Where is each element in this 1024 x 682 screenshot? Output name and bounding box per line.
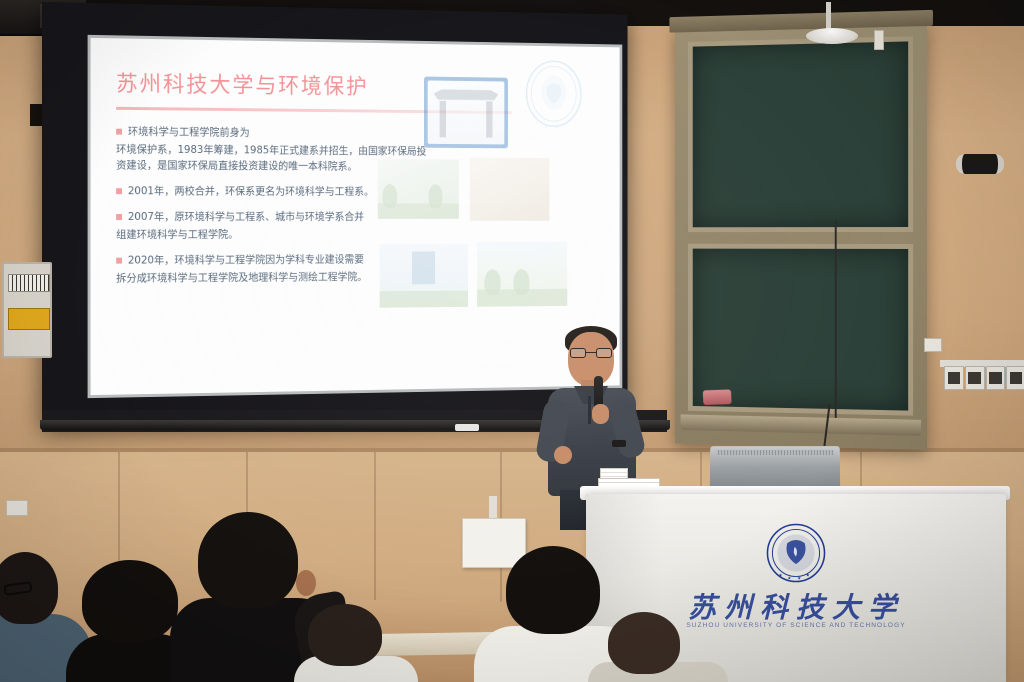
bullet-continuation-text: 组建环境科学与工程学院。 <box>116 227 429 243</box>
hanging-cord <box>835 220 837 418</box>
power-outlet-bank[interactable] <box>944 366 1024 390</box>
presenter-head <box>568 332 614 386</box>
power-outlet[interactable] <box>944 366 964 390</box>
slide-photo-old-building <box>378 159 459 219</box>
presenter-left-hand <box>554 446 572 464</box>
breaker-amber-label <box>8 308 50 330</box>
bullet-lead-text: 2020年，环境科学与工程学院因为学科专业建设需要 <box>128 252 364 269</box>
presenter-wristwatch <box>612 440 626 447</box>
audience-member <box>300 610 410 682</box>
blackboard-pane-upper <box>688 36 913 232</box>
bullet-square-icon <box>116 188 122 194</box>
electrical-breaker-panel[interactable] <box>2 262 52 358</box>
svg-text:★: ★ <box>544 125 548 129</box>
chalk-eraser[interactable] <box>703 389 732 405</box>
wall-camera-icon <box>956 154 1004 174</box>
presenter-right-hand <box>592 404 609 424</box>
svg-text:★: ★ <box>555 126 559 130</box>
presenter-placket <box>588 396 591 424</box>
bullet-square-icon <box>116 258 122 264</box>
slide-photo-campus-gate <box>424 77 508 149</box>
slide-photo-campus-greenway <box>477 241 567 306</box>
lecture-hall-scene: ★★ ★★ 苏州科技大学与环境保护 环境科学与工程学院前身为 环境保护系，198… <box>0 0 1024 682</box>
audience-member <box>598 618 718 682</box>
bullet-square-icon <box>116 214 122 220</box>
svg-text:★: ★ <box>565 121 569 125</box>
bullet-lead-text: 2007年，原环境科学与工程系、城市与环境学系合并 <box>128 209 364 225</box>
wall-outlet-plate[interactable] <box>6 500 28 516</box>
breaker-switch-row <box>8 274 50 292</box>
power-outlet[interactable] <box>986 366 1006 390</box>
screen-pull-tab[interactable] <box>455 424 479 431</box>
blackboard <box>675 22 927 450</box>
ceiling-speaker-icon <box>806 28 858 44</box>
bullet-item: 环境科学与工程学院前身为 <box>116 124 429 142</box>
chalk-tray <box>681 414 921 435</box>
bullet-lead-text: 2001年，两校合并，环保系更名为环境科学与工程系。 <box>128 183 374 199</box>
wall-sensor <box>874 30 884 50</box>
speaker-mount-stem <box>826 2 831 30</box>
light-switch[interactable] <box>924 338 942 352</box>
svg-text:★: ★ <box>535 121 539 125</box>
power-outlet[interactable] <box>965 366 985 390</box>
power-outlet[interactable] <box>1006 366 1024 390</box>
laptop-vent <box>716 450 834 455</box>
bullet-lead-text: 环境科学与工程学院前身为 <box>128 124 250 141</box>
presenter-glasses-icon <box>570 348 612 358</box>
slide-photo-modern-tower <box>380 244 468 308</box>
slide-title: 苏州科技大学与环境保护 <box>116 66 596 103</box>
bullet-square-icon <box>116 129 122 135</box>
slide-photo-brick-building <box>470 158 550 221</box>
